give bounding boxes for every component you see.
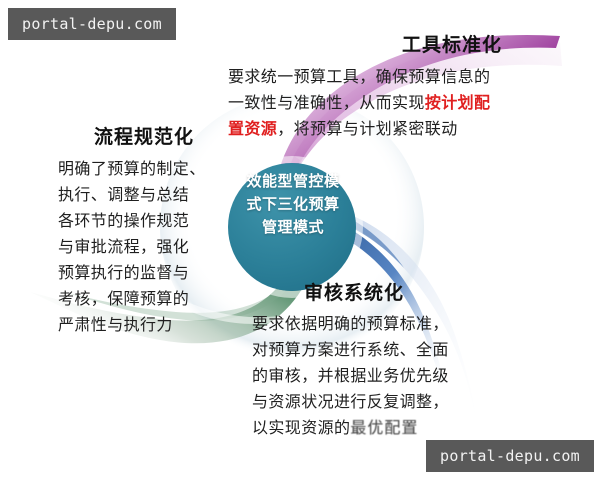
lobe-flow-line-2: 执行、调整与总结 [58, 182, 230, 208]
lobe-process-standardization: 流程规范化 明确了预算的制定、 执行、调整与总结 各环节的操作规范 与审批流程，… [58, 122, 230, 338]
lobe-audit-line-3: 的审核，并根据业务优先级 [252, 363, 592, 389]
lobe-audit-line-4: 与资源状况进行反复调整， [252, 389, 592, 415]
lobe-audit-line-1: 要求依据明确的预算标准， [252, 311, 592, 337]
lobe-audit-obscured-tail: 最优配置 [350, 418, 418, 437]
lobe-flow-line-6: 考核，保障预算的 [58, 286, 230, 312]
lobe-tool-body: 要求统一预算工具，确保预算信息的 一致性与准确性，从而实现按计划配 置资源，将预… [228, 64, 588, 142]
lobe-tool-line-3-plain: ，将预算与计划紧密联动 [277, 119, 457, 138]
lobe-audit-line-2: 对预算方案进行系统、全面 [252, 337, 592, 363]
lobe-tool-heading: 工具标准化 [316, 30, 588, 57]
watermark-bottom-right: portal-depu.com [426, 440, 594, 472]
lobe-audit-systematization: 审核系统化 要求依据明确的预算标准， 对预算方案进行系统、全面 的审核，并根据业… [252, 278, 592, 441]
lobe-flow-line-4: 与审批流程，强化 [58, 234, 230, 260]
lobe-audit-body: 要求依据明确的预算标准， 对预算方案进行系统、全面 的审核，并根据业务优先级 与… [252, 311, 592, 441]
lobe-flow-line-7: 严肃性与执行力 [58, 312, 230, 338]
lobe-audit-line-5: 以实现资源的最优配置 [252, 415, 592, 441]
center-line-1: 效能型管控模 [222, 170, 364, 193]
watermark-top-left: portal-depu.com [8, 8, 176, 40]
center-line-2: 式下三化预算 [222, 193, 364, 216]
lobe-tool-line-2: 一致性与准确性，从而实现按计划配 [228, 90, 588, 116]
lobe-tool-line-1: 要求统一预算工具，确保预算信息的 [228, 64, 588, 90]
lobe-flow-line-5: 预算执行的监督与 [58, 260, 230, 286]
lobe-tool-highlight-b: 置资源 [228, 119, 277, 138]
lobe-flow-heading: 流程规范化 [58, 122, 230, 149]
lobe-flow-line-1: 明确了预算的制定、 [58, 156, 230, 182]
lobe-audit-heading: 审核系统化 [304, 278, 592, 305]
lobe-tool-line-2-plain: 一致性与准确性，从而实现 [228, 93, 425, 112]
lobe-flow-line-3: 各环节的操作规范 [58, 208, 230, 234]
center-line-3: 管理模式 [222, 216, 364, 239]
lobe-tool-highlight-a: 按计划配 [425, 93, 491, 112]
lobe-audit-line-5-plain: 以实现资源的 [252, 418, 350, 437]
lobe-tool-line-3: 置资源，将预算与计划紧密联动 [228, 116, 588, 142]
lobe-tool-standardization: 工具标准化 要求统一预算工具，确保预算信息的 一致性与准确性，从而实现按计划配 … [228, 30, 588, 142]
lobe-flow-body: 明确了预算的制定、 执行、调整与总结 各环节的操作规范 与审批流程，强化 预算执… [58, 156, 230, 338]
infographic-canvas: 效能型管控模 式下三化预算 管理模式 工具标准化 要求统一预算工具，确保预算信息… [0, 0, 600, 480]
center-circle-label: 效能型管控模 式下三化预算 管理模式 [222, 170, 364, 239]
